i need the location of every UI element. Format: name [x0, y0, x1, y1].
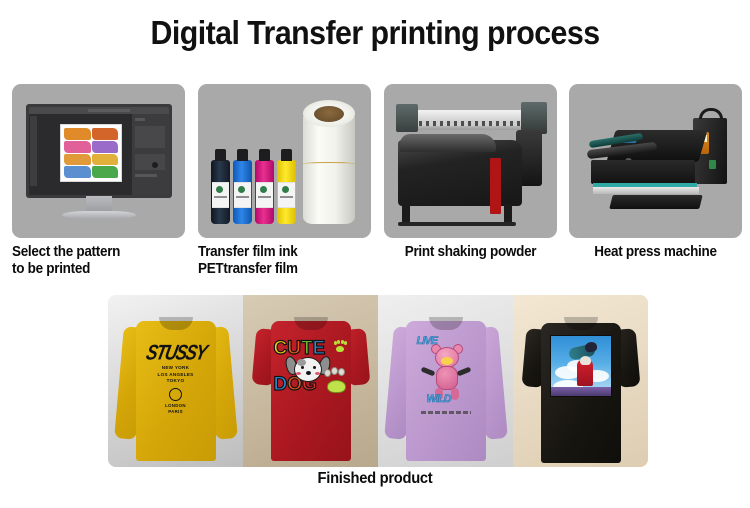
- ink-bottle-black: [211, 160, 230, 224]
- design-canvas: [60, 124, 122, 182]
- step-card-select-pattern: Select the pattern to be printed: [12, 84, 185, 278]
- computer-monitor-icon: [26, 104, 172, 198]
- printer-gantry: [406, 110, 538, 130]
- printer-legs: [400, 204, 520, 222]
- step-2-image: [198, 84, 371, 238]
- press-lower-platen: [591, 160, 695, 184]
- roll-cardboard-core: [314, 106, 344, 122]
- ink-bottle-magenta: [255, 160, 274, 224]
- app-toolbar: [30, 116, 37, 186]
- printer-head-left: [396, 104, 418, 132]
- anime-sky-scene-print: [550, 335, 612, 397]
- bear-print-fine-text: [421, 411, 471, 414]
- paw-print-icon: [334, 341, 346, 352]
- app-menubar: [29, 107, 169, 114]
- press-base-plate: [593, 187, 699, 194]
- app-side-panel: [131, 114, 169, 195]
- step-1-caption: Select the pattern to be printed: [12, 244, 173, 278]
- dtf-printer-icon: [394, 100, 549, 228]
- monitor-stand-base: [62, 211, 136, 219]
- finished-product-caption: Finished product: [19, 470, 732, 488]
- monitor-screen: [29, 107, 169, 195]
- cute-dog-print: CUTE DOG: [272, 339, 350, 403]
- stussy-cities-top: NEW YORK LOS ANGELES TOKYO: [142, 365, 210, 385]
- step-card-transfer-film-ink: Transfer film ink PETtransfer film: [198, 84, 371, 278]
- stussy-wordmark: STUSSY: [139, 341, 212, 366]
- graffiti-teddy-bear-print: LIVE WILD: [415, 335, 477, 419]
- ink-bottle-yellow: [277, 160, 296, 224]
- finished-product-photo-strip: STUSSY NEW YORK LOS ANGELES TOKYO LONDON…: [108, 295, 648, 467]
- teddy-bear-graphic: [427, 347, 465, 399]
- press-pressure-knob: [699, 108, 723, 119]
- heat-press-icon: [581, 106, 731, 218]
- product-photo-yellow-tee: STUSSY NEW YORK LOS ANGELES TOKYO LONDON…: [108, 295, 243, 467]
- dog-face-graphic: [288, 355, 328, 389]
- ink-bottle-cyan: [233, 160, 252, 224]
- shaker-lid: [400, 134, 496, 152]
- step-4-image: [569, 84, 742, 238]
- step-card-heat-press: Heat press machine: [569, 84, 742, 261]
- pet-film-roll: [299, 100, 359, 224]
- monitor-bezel: [26, 104, 172, 198]
- press-power-switch: [709, 160, 716, 169]
- powder-shaker-body: [398, 140, 522, 206]
- ink-bottles-group: [211, 144, 297, 224]
- stussy-graffiti-print: STUSSY NEW YORK LOS ANGELES TOKYO LONDON…: [142, 343, 210, 416]
- page-title: Digital Transfer printing process: [30, 14, 720, 52]
- step-3-image: [384, 84, 557, 238]
- product-photo-black-tee: [513, 295, 648, 467]
- press-pullout-tray: [609, 195, 702, 209]
- infographic-root: Digital Transfer printing process: [0, 0, 750, 508]
- printer-cross-bar: [398, 222, 516, 226]
- stussy-seal-icon: [169, 388, 182, 401]
- step-3-caption: Print shaking powder: [390, 244, 551, 261]
- step-4-caption: Heat press machine: [575, 244, 736, 261]
- step-1-image: [12, 84, 185, 238]
- product-photo-purple-tee: LIVE WILD: [378, 295, 513, 467]
- bear-graffiti-bottom-text: WILD: [427, 393, 451, 405]
- process-steps-row: Select the pattern to be printed: [12, 84, 738, 280]
- stussy-cities-bottom: LONDON PARIS: [142, 403, 210, 416]
- step-card-print-shaking-powder: Print shaking powder: [384, 84, 557, 261]
- product-photo-red-tee: CUTE DOG: [243, 295, 378, 467]
- large-paw-graphic: [324, 369, 350, 393]
- step-2-caption: Transfer film ink PETtransfer film: [198, 244, 359, 278]
